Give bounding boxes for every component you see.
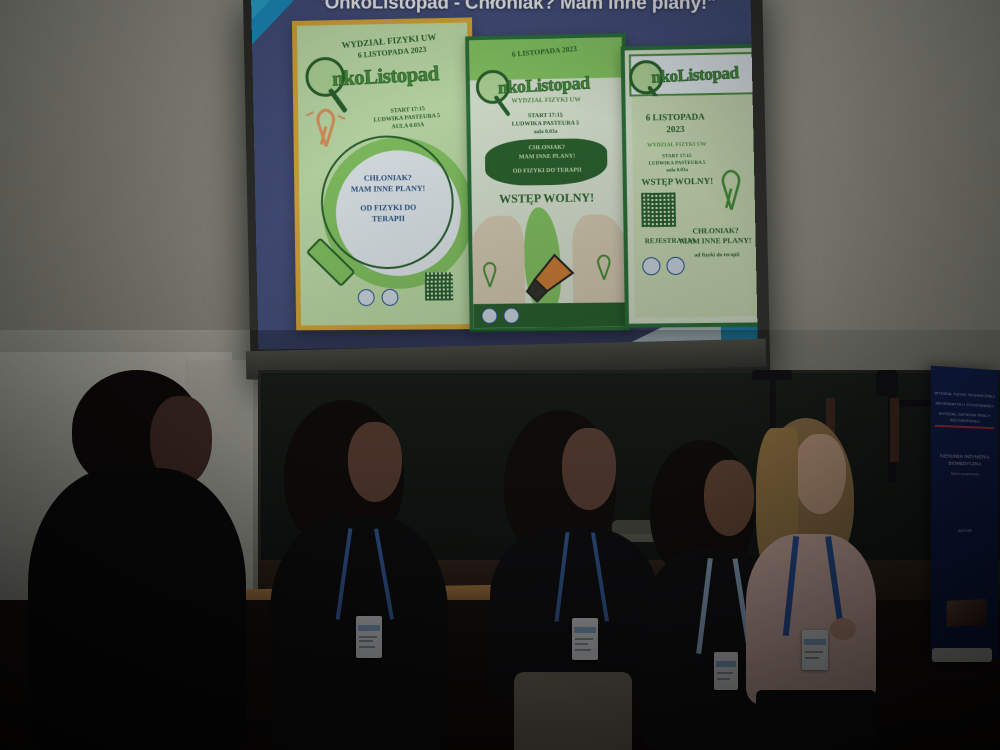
rollup-banner: WYDZIAŁ FIZYKI TECHNICZNEJ INFORMATYKI I…: [931, 366, 998, 663]
poster1-headline-3: OD FIZYKI DO: [341, 203, 436, 213]
logo-faculty-icon-3: [666, 257, 684, 275]
badge-line: [717, 672, 733, 674]
person-1: [10, 370, 270, 750]
poster1-qr-code: [425, 272, 453, 300]
person-2: [270, 400, 470, 750]
person-5-body: [746, 534, 876, 704]
logo-faculty-icon-2: [503, 308, 519, 324]
logo-uw-icon-3: [642, 257, 660, 275]
banner-body-note: Nasza propozycja: [934, 471, 996, 477]
poster2-free-entry: WSTĘP WOLNY!: [486, 190, 608, 207]
face-silhouette-left-icon: [469, 215, 525, 312]
badge-line: [359, 646, 375, 648]
banner-header-line-1: WYDZIAŁ FIZYKI TECHNICZNEJ: [934, 390, 996, 399]
poster2-start: START 17:15: [500, 112, 590, 120]
badge-line: [575, 643, 588, 645]
poster2-brand: nkoListopad: [497, 72, 590, 98]
badge-line: [805, 651, 823, 653]
banner-author-label: AUTOR: [934, 528, 996, 534]
badge-line: [805, 657, 819, 659]
person-2-face: [348, 422, 402, 502]
poster3-free-entry: WSTĘP WOLNY!: [629, 176, 726, 188]
badge-band: [358, 625, 380, 631]
person-5-badge: [802, 630, 828, 670]
person-1-body: [28, 468, 246, 750]
logo-faculty-icon: [381, 289, 398, 306]
presentation-slide: "OnkoListopad - Chłoniak? Mam inne plany…: [251, 0, 758, 350]
poster2-room: aula 0.03a: [503, 128, 589, 135]
apparatus-head-1: [752, 370, 792, 380]
person-3-badge: [572, 618, 598, 660]
poster3-headline-2: MAM INNE PLANY!: [668, 236, 758, 246]
ribbon-sparkle-icon: [306, 111, 314, 116]
badge-line: [575, 649, 591, 651]
person-3-face: [562, 428, 616, 510]
person-5: [742, 418, 902, 750]
badge-line: [575, 638, 593, 640]
logo-uw-icon-2: [481, 308, 497, 324]
poster1-headline-1: CHŁONIAK?: [342, 173, 433, 183]
poster1-brand: nkoListopad: [332, 61, 440, 91]
poster3-date-2: 2023: [632, 123, 719, 135]
photo-scene: "OnkoListopad - Chłoniak? Mam inne plany…: [0, 0, 1000, 750]
poster3-subheadline: od fizyki do terapii: [678, 252, 755, 259]
apparatus-head-2: [876, 370, 898, 396]
poster3-headline-1: CHŁONIAK?: [672, 226, 758, 236]
ribbon-sparkle-icon-2: [338, 115, 346, 120]
banner-header-line-2: INFORMATYKI I STOSOWANEJ: [934, 400, 996, 409]
poster-magnifier: WYDZIAŁ FIZYKI UW 6 LISTOPADA 2023 nkoLi…: [292, 17, 476, 330]
person-5-skirt: [756, 690, 876, 750]
banner-image: [947, 599, 987, 627]
poster-qr: nkoListopad 6 LISTOPADA 2023 WYDZIAŁ FIZ…: [621, 44, 758, 328]
poster1-headline-4: TERAPII: [347, 214, 430, 224]
badge-band: [574, 627, 596, 633]
badge-line: [717, 678, 730, 680]
banner-section-title: KIERUNEK INŻYNIERIA BIOMEDYCZNA: [934, 453, 996, 468]
person-5-hands: [830, 618, 856, 640]
poster3-date-1: 6 LISTOPADA: [632, 111, 719, 123]
banner-base: [932, 648, 992, 662]
poster-megaphone: 6 LISTOPADA 2023 nkoListopad WYDZIAŁ FIZ…: [465, 33, 630, 332]
banner-accent-line: [935, 425, 995, 429]
ribbon-small-left-icon: [483, 262, 497, 288]
poster2-faculty: WYDZIAŁ FIZYKI UW: [496, 96, 596, 105]
ribbon-small-right-icon: [597, 254, 611, 280]
logo-uw-icon: [358, 289, 375, 306]
person-3-trousers: [514, 672, 632, 750]
ribbon-green-icon: [720, 169, 743, 212]
person-2-badge: [356, 616, 382, 658]
person-5-face: [794, 434, 846, 514]
badge-line: [359, 636, 377, 638]
badge-band: [804, 639, 826, 645]
poster3-qr-code: [641, 192, 676, 227]
person-4-badge: [714, 652, 738, 690]
megaphone-icon: [522, 251, 577, 306]
banner-header-line-3: WYDZIAŁ ZAPISÓW PRACY INŻYNIERSKIEJ: [934, 410, 996, 424]
awareness-ribbon-icon: [315, 109, 337, 149]
badge-band: [716, 661, 736, 667]
badge-line: [359, 640, 373, 642]
poster2-address: LUDWIKA PASTEURA 5: [496, 120, 594, 128]
slide-title: "OnkoListopad - Chłoniak? Mam inne plany…: [306, 0, 726, 16]
poster1-headline-2: MAM INNE PLANY!: [337, 184, 440, 194]
